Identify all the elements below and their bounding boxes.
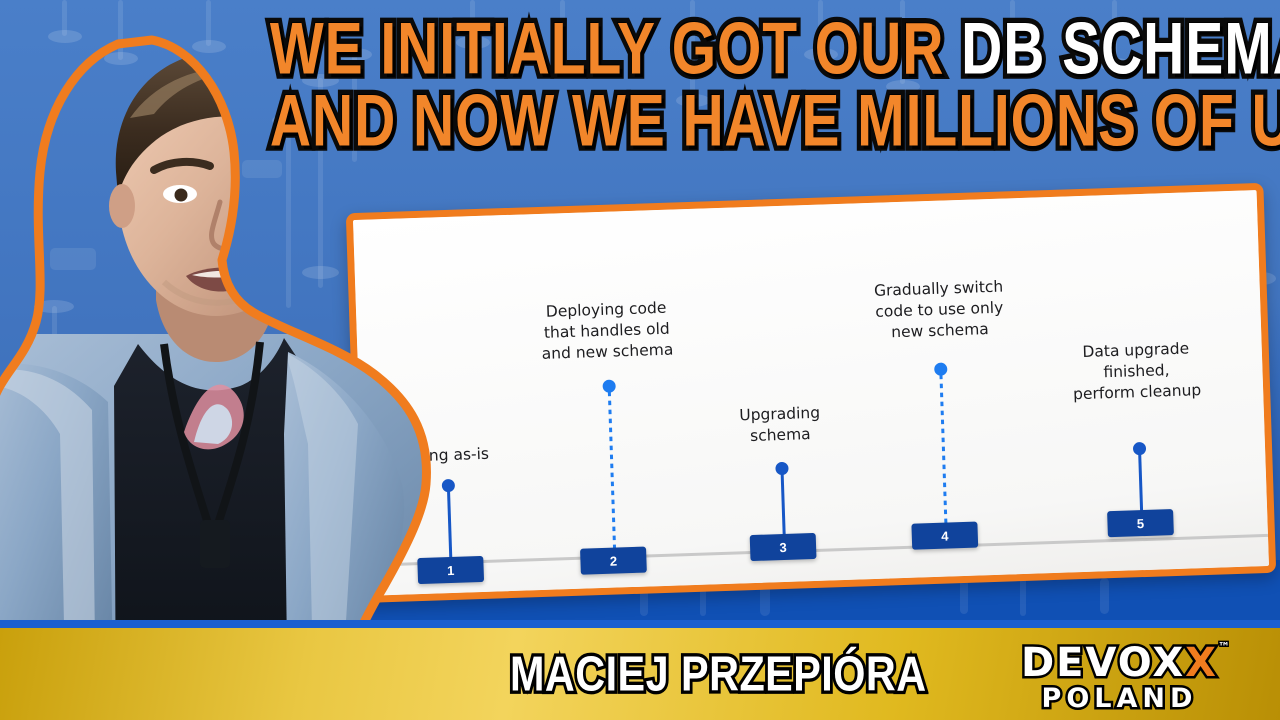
bottom-blue-strip [0,620,1280,628]
timeline-step-3-box: 3 [750,533,817,561]
timeline-step-2-stem [608,392,616,552]
devoxx-wordmark-text: DEVOX [1021,640,1185,686]
devoxx-region-label: POLAND [1021,685,1218,712]
timeline-step-5-stem [1138,450,1143,516]
timeline-step-2-box: 2 [580,547,647,575]
devoxx-wordmark: DEVOXX™ [1021,643,1218,683]
slide-canvas: ning as-is 1 Deploying code that handles… [353,190,1269,596]
timeline-step-5-box: 5 [1107,509,1174,537]
thumbnail-title: WE INITIALLY GOT OUR DB SCHEMA WRONG AND… [228,14,1276,158]
devoxx-accent-x: X [1185,640,1218,686]
speaker-name: MACIEJ PRZEPIÓRA [510,646,927,704]
timeline-step-4-label: Gradually switch code to use only new sc… [833,275,1045,345]
timeline-step-4-stem [939,375,947,527]
title-line-1-orange: WE INITIALLY GOT OUR [270,9,961,90]
timeline-step-3-stem [781,470,786,542]
title-line-2: AND NOW WE HAVE MILLIONS OF USERS... [270,80,1234,165]
timeline-step-5-label: Data upgrade finished, perform cleanup [1025,337,1247,407]
timeline-step-3-label: Upgrading schema [689,401,870,449]
timeline-step-2-label: Deploying code that handles old and new … [506,296,708,366]
devoxx-poland-logo: DEVOXX™ POLAND [1021,643,1218,712]
presentation-slide: ning as-is 1 Deploying code that handles… [346,183,1276,603]
youtube-thumbnail: ning as-is 1 Deploying code that handles… [0,0,1280,720]
devoxx-trademark-icon: ™ [1218,641,1232,653]
timeline-step-4-box: 4 [911,522,978,550]
title-line-1-white: DB SCHEMA WRONG [961,9,1280,90]
